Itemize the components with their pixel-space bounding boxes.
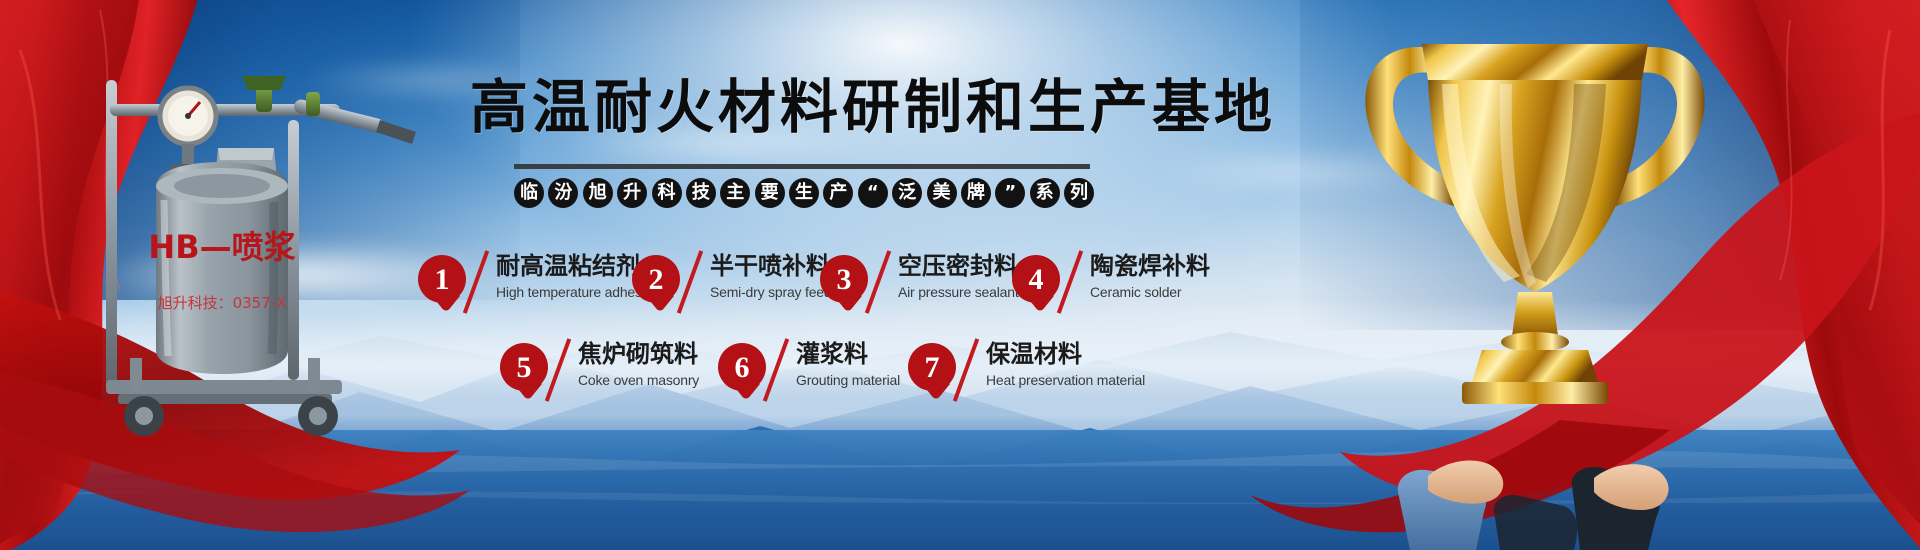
product-number-badge: 2 <box>632 255 680 307</box>
product-item-6[interactable]: 6灌浆料Grouting material <box>718 341 900 401</box>
product-item-3[interactable]: 3空压密封料Air pressure sealant <box>820 253 1019 313</box>
product-item-7[interactable]: 7保温材料Heat preservation material <box>908 341 1145 401</box>
product-text-group: 陶瓷焊补料Ceramic solder <box>1090 253 1210 301</box>
product-number-badge: 5 <box>500 343 548 395</box>
product-text-group: 灌浆料Grouting material <box>796 341 900 389</box>
product-number-badge: 7 <box>908 343 956 395</box>
red-slash-divider <box>1058 253 1084 313</box>
red-slash-divider <box>464 253 490 313</box>
product-name-cn: 半干喷补料 <box>710 253 831 280</box>
product-name-cn: 空压密封料 <box>898 253 1019 280</box>
product-name-en: Air pressure sealant <box>898 284 1019 302</box>
product-name-en: Heat preservation material <box>986 372 1145 390</box>
product-name-en: Coke oven masonry <box>578 372 699 390</box>
product-name-cn: 焦炉砌筑料 <box>578 341 699 368</box>
banner-text-content: 高温耐火材料研制和生产基地 临汾旭升科技主要生产“泛美牌”系列 1耐高温粘结剂H… <box>0 0 1920 550</box>
product-name-cn: 灌浆料 <box>796 341 900 368</box>
product-item-5[interactable]: 5焦炉砌筑料Coke oven masonry <box>500 341 699 401</box>
product-name-en: Grouting material <box>796 372 900 390</box>
product-number: 1 <box>418 255 466 307</box>
product-name-en: Ceramic solder <box>1090 284 1210 302</box>
product-name-en: Semi-dry spray feed <box>710 284 831 302</box>
product-text-group: 半干喷补料Semi-dry spray feed <box>710 253 831 301</box>
product-name-cn: 保温材料 <box>986 341 1145 368</box>
product-number-badge: 1 <box>418 255 466 307</box>
product-text-group: 焦炉砌筑料Coke oven masonry <box>578 341 699 389</box>
product-number: 4 <box>1012 255 1060 307</box>
product-number-badge: 4 <box>1012 255 1060 307</box>
product-number-badge: 3 <box>820 255 868 307</box>
product-list: 1耐高温粘结剂High temperature adhesive2半干喷补料Se… <box>0 0 1920 550</box>
red-slash-divider <box>866 253 892 313</box>
product-number: 2 <box>632 255 680 307</box>
product-number-badge: 6 <box>718 343 766 395</box>
red-slash-divider <box>764 341 790 401</box>
product-number: 3 <box>820 255 868 307</box>
promo-banner: HB—喷浆 旭升科技：0357-X 高温耐火材料研制和生产基地 临汾旭升科技主要… <box>0 0 1920 550</box>
product-item-2[interactable]: 2半干喷补料Semi-dry spray feed <box>632 253 831 313</box>
product-number: 7 <box>908 343 956 395</box>
red-slash-divider <box>546 341 572 401</box>
product-number: 6 <box>718 343 766 395</box>
product-number: 5 <box>500 343 548 395</box>
product-name-cn: 陶瓷焊补料 <box>1090 253 1210 280</box>
product-item-1[interactable]: 1耐高温粘结剂High temperature adhesive <box>418 253 659 313</box>
product-item-4[interactable]: 4陶瓷焊补料Ceramic solder <box>1012 253 1210 313</box>
product-text-group: 空压密封料Air pressure sealant <box>898 253 1019 301</box>
red-slash-divider <box>954 341 980 401</box>
product-text-group: 保温材料Heat preservation material <box>986 341 1145 389</box>
red-slash-divider <box>678 253 704 313</box>
